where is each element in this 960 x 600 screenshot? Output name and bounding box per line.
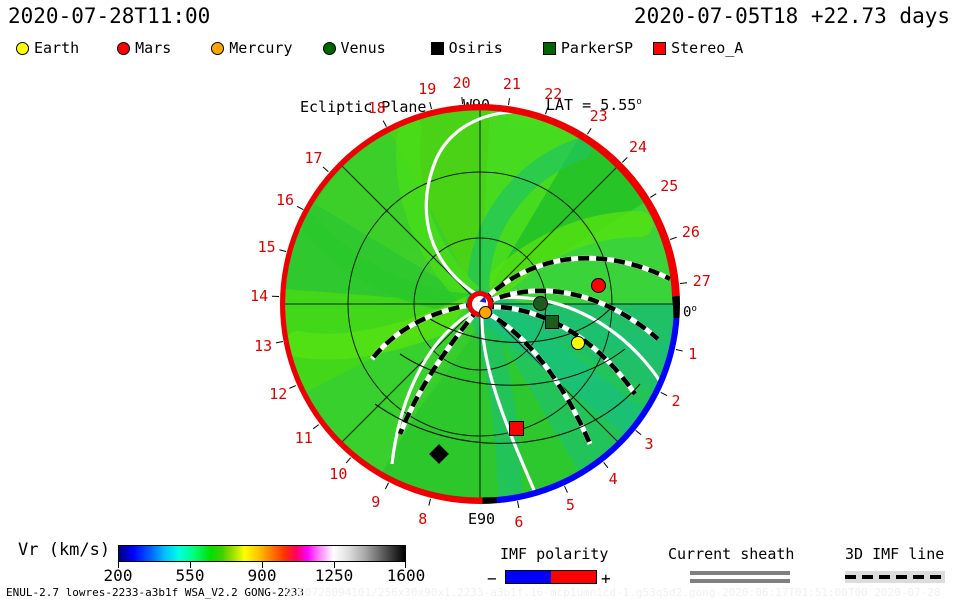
model-footer-text: ENUL-2.7 lowres-2233-a3b1f WSA_V2.2 GONG… — [6, 586, 304, 599]
carrington-label-20: 20 — [453, 74, 471, 92]
osiris-marker-icon — [431, 42, 444, 55]
legend-label-mars: Mars — [135, 39, 171, 57]
zero-longitude-label: 0o — [683, 304, 697, 321]
run-id-watermark: QUE0728094101/256x30x90x1.2233-a3b1f.16-… — [285, 586, 941, 599]
imf-3d-line-title: 3D IMF line — [845, 545, 944, 563]
carrington-label-24: 24 — [629, 138, 647, 156]
legend-item-osiris: Osiris — [431, 39, 503, 57]
carrington-label-18: 18 — [368, 99, 386, 117]
carrington-label-26: 26 — [682, 223, 700, 241]
carrington-label-19: 19 — [418, 80, 436, 98]
bottom-meridian-label: E90 — [468, 510, 495, 528]
mercury-marker-icon — [211, 42, 224, 55]
current-sheath-swatch-bottom — [690, 579, 790, 583]
colorbar-tick-label-200: 200 — [104, 566, 133, 585]
planet-marker-venus — [533, 296, 548, 311]
carrington-label-22: 22 — [544, 85, 562, 103]
legend-label-venus: Venus — [341, 39, 386, 57]
carrington-label-23: 23 — [590, 107, 608, 125]
colorbar-tick-label-900: 900 — [248, 566, 277, 585]
carrington-label-5: 5 — [566, 496, 575, 514]
planet-marker-stereo_a — [509, 421, 524, 436]
carrington-label-1: 1 — [688, 345, 697, 363]
imf-polarity-swatch — [505, 570, 597, 584]
solar-wind-disk — [280, 104, 680, 504]
planet-marker-earth — [571, 336, 585, 350]
carrington-label-21: 21 — [503, 75, 521, 93]
carrington-label-3: 3 — [645, 435, 654, 453]
solar-wind-disk-wrapper — [280, 104, 680, 504]
ecliptic-plane-plot: Ecliptic Plane W90 E90 0o LAT = 5.55o — [0, 64, 960, 524]
current-sheath-swatch-top — [690, 571, 790, 575]
body-legend: EarthMarsMercuryVenusOsirisParkerSPStere… — [8, 36, 952, 60]
carrington-label-2: 2 — [672, 392, 681, 410]
planet-marker-parkersp — [545, 315, 559, 329]
carrington-label-13: 13 — [254, 337, 272, 355]
mars-marker-icon — [117, 42, 130, 55]
carrington-label-10: 10 — [329, 465, 347, 483]
earth-marker-icon — [16, 42, 29, 55]
venus-marker-icon — [323, 42, 336, 55]
legend-item-venus: Venus — [323, 39, 386, 57]
planet-marker-mercury — [479, 306, 492, 319]
carrington-label-11: 11 — [295, 429, 313, 447]
legend-item-mars: Mars — [117, 39, 171, 57]
colorbar-title: Vr (km/s) — [18, 540, 110, 560]
legend-item-parkersp: ParkerSP — [543, 39, 633, 57]
legend-label-osiris: Osiris — [449, 39, 503, 57]
legend-label-mercury: Mercury — [229, 39, 292, 57]
carrington-label-8: 8 — [418, 510, 427, 528]
parkersp-marker-icon — [543, 42, 556, 55]
current-sheath-title: Current sheath — [668, 545, 794, 563]
colorbar-tick-label-550: 550 — [176, 566, 205, 585]
colorbar-tick-label-1250: 1250 — [315, 566, 354, 585]
run-timestamp: 2020-07-05T18 +22.73 days — [634, 4, 950, 28]
carrington-tick-27 — [680, 282, 687, 284]
carrington-tick-14 — [272, 296, 279, 297]
legend-item-mercury: Mercury — [211, 39, 292, 57]
current-timestamp: 2020-07-28T11:00 — [8, 4, 210, 28]
carrington-label-6: 6 — [514, 513, 523, 531]
colorbar-tick-label-1600: 1600 — [387, 566, 426, 585]
vr-colorbar — [118, 545, 406, 562]
legend-label-earth: Earth — [34, 39, 79, 57]
carrington-label-16: 16 — [276, 191, 294, 209]
legend-item-stereo_a: Stereo_A — [653, 39, 743, 57]
legend-label-parkersp: ParkerSP — [561, 39, 633, 57]
carrington-label-9: 9 — [371, 493, 380, 511]
carrington-label-15: 15 — [258, 238, 276, 256]
carrington-label-14: 14 — [250, 287, 268, 305]
stereo_a-marker-icon — [653, 42, 666, 55]
imf-polarity-title: IMF polarity — [500, 545, 608, 563]
carrington-label-4: 4 — [609, 470, 618, 488]
imf-3d-line-swatch-dash — [845, 575, 945, 579]
carrington-label-17: 17 — [304, 149, 322, 167]
carrington-label-12: 12 — [269, 385, 287, 403]
legend-item-earth: Earth — [16, 39, 79, 57]
planet-marker-mars — [591, 278, 606, 293]
carrington-label-25: 25 — [660, 177, 678, 195]
legend-label-stereo_a: Stereo_A — [671, 39, 743, 57]
carrington-label-27: 27 — [693, 272, 711, 290]
